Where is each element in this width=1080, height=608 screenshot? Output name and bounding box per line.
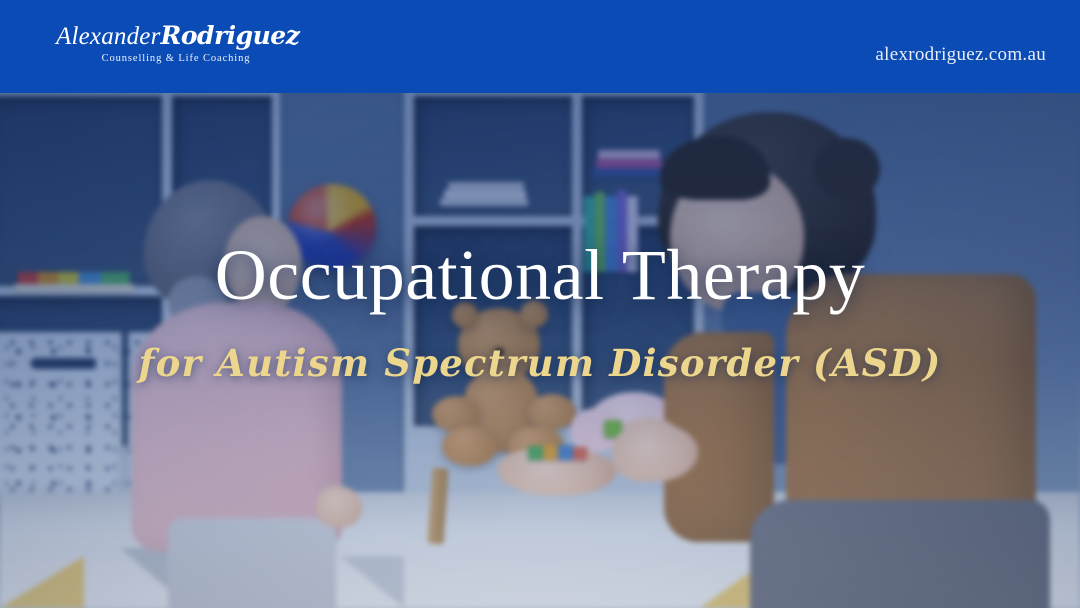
brand-logo-name: AlexanderRodriguez <box>56 22 296 51</box>
brand-first-name: Alexander <box>56 23 161 50</box>
brand-logo[interactable]: AlexanderRodriguez Counselling & Life Co… <box>56 22 296 74</box>
slide-canvas: Occupational Therapy for Autism Spectrum… <box>0 0 1080 608</box>
website-url[interactable]: alexrodriguez.com.au <box>875 44 1046 66</box>
top-header-bar: AlexanderRodriguez Counselling & Life Co… <box>0 0 1080 93</box>
brand-last-name: Rodriguez <box>161 21 300 50</box>
brand-tagline: Counselling & Life Coaching <box>56 53 296 64</box>
